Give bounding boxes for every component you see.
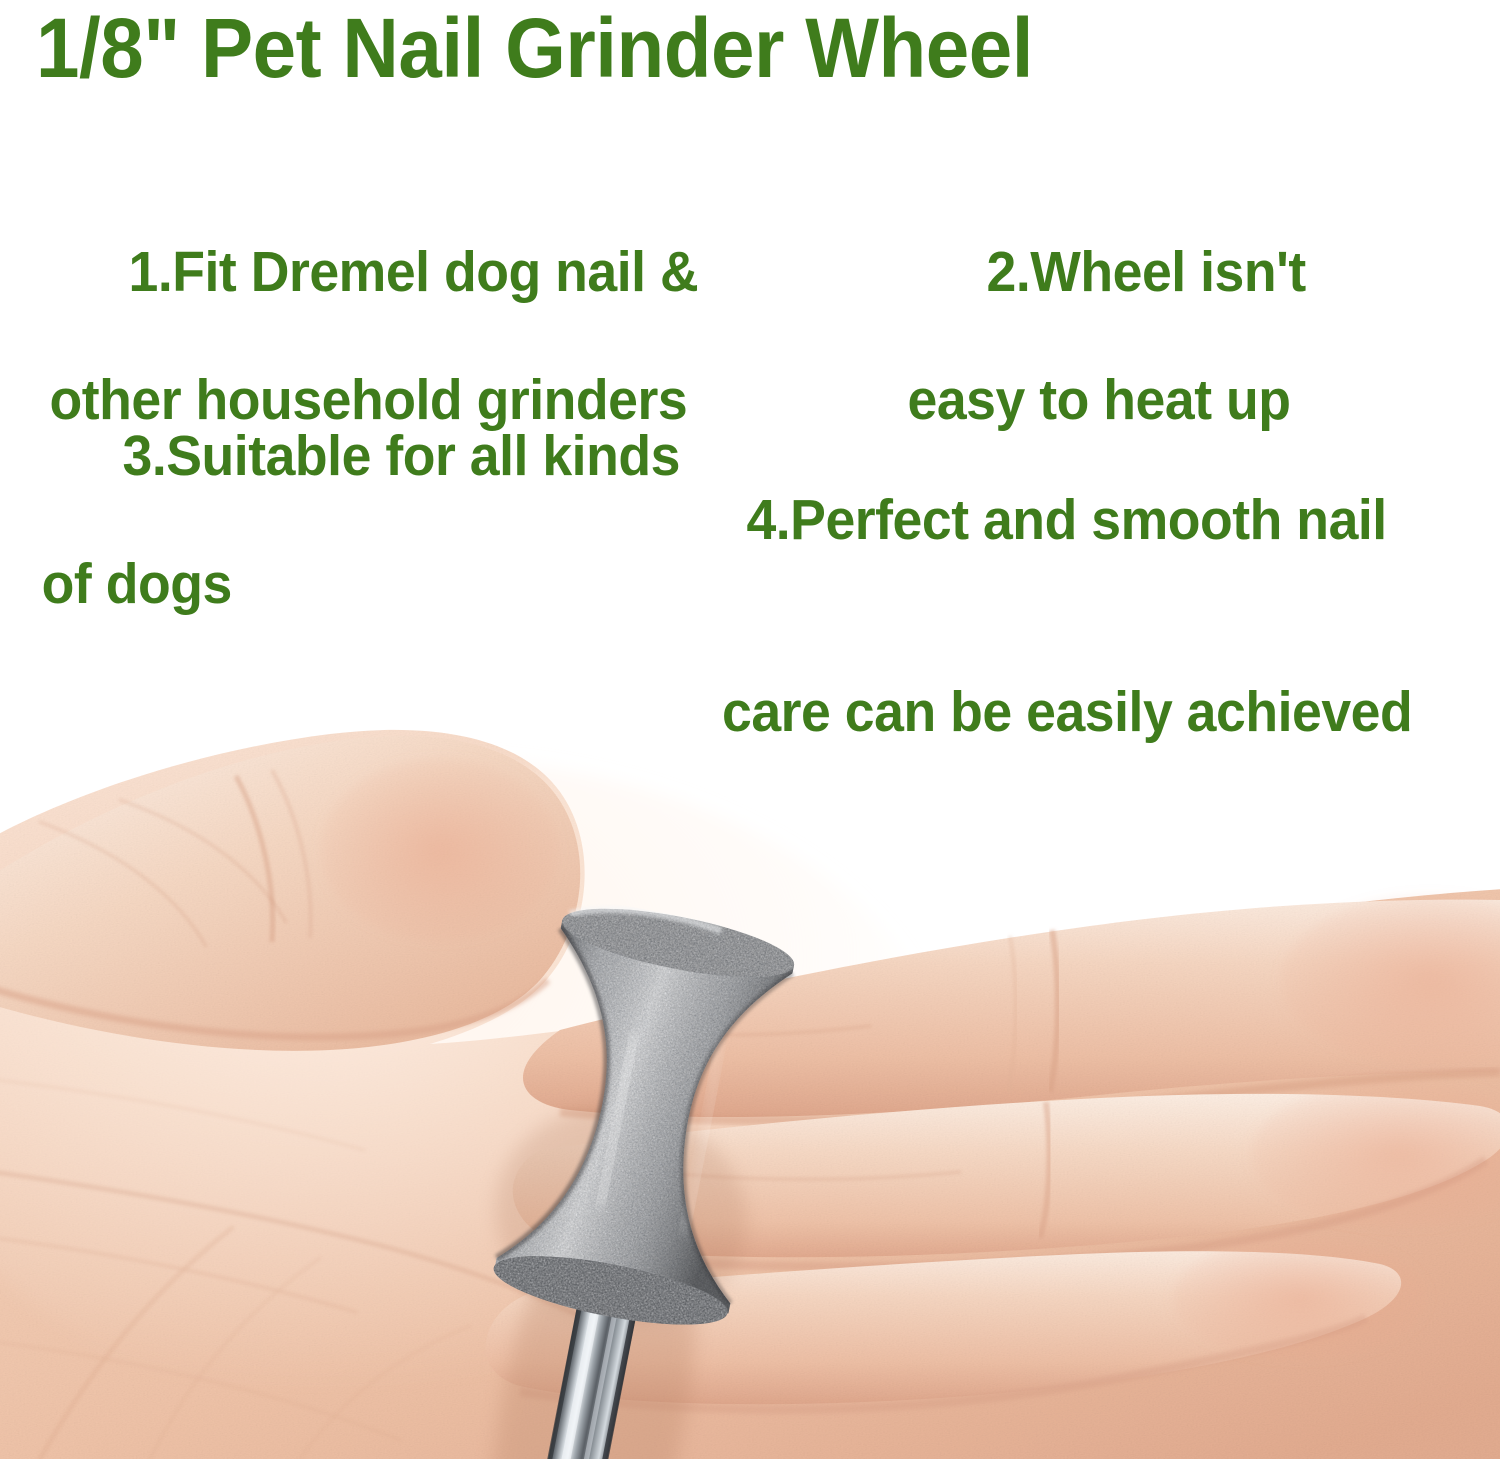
feature-4-line-1: 4.Perfect and smooth nail — [722, 488, 1412, 552]
feature-3-line-1: 3.Suitable for all kinds — [123, 424, 680, 488]
feature-1-line-1: 1.Fit Dremel dog nail & — [129, 240, 699, 304]
feature-4-line-2: care can be easily achieved — [722, 680, 1412, 744]
page-title: 1/8" Pet Nail Grinder Wheel — [36, 2, 1033, 94]
feature-2-line-1: 2.Wheel isn't — [987, 240, 1306, 304]
index-finger — [0, 736, 580, 1051]
feature-3: 3.Suitable for all kinds of dogs — [36, 360, 680, 744]
feature-3-line-2: of dogs — [36, 552, 680, 616]
product-marketing-image: 1/8" Pet Nail Grinder Wheel 1.Fit Dremel… — [0, 0, 1500, 1459]
feature-4: 4.Perfect and smooth nail care can be ea… — [722, 360, 1412, 872]
marketing-copy: 1/8" Pet Nail Grinder Wheel 1.Fit Dremel… — [0, 0, 1500, 520]
